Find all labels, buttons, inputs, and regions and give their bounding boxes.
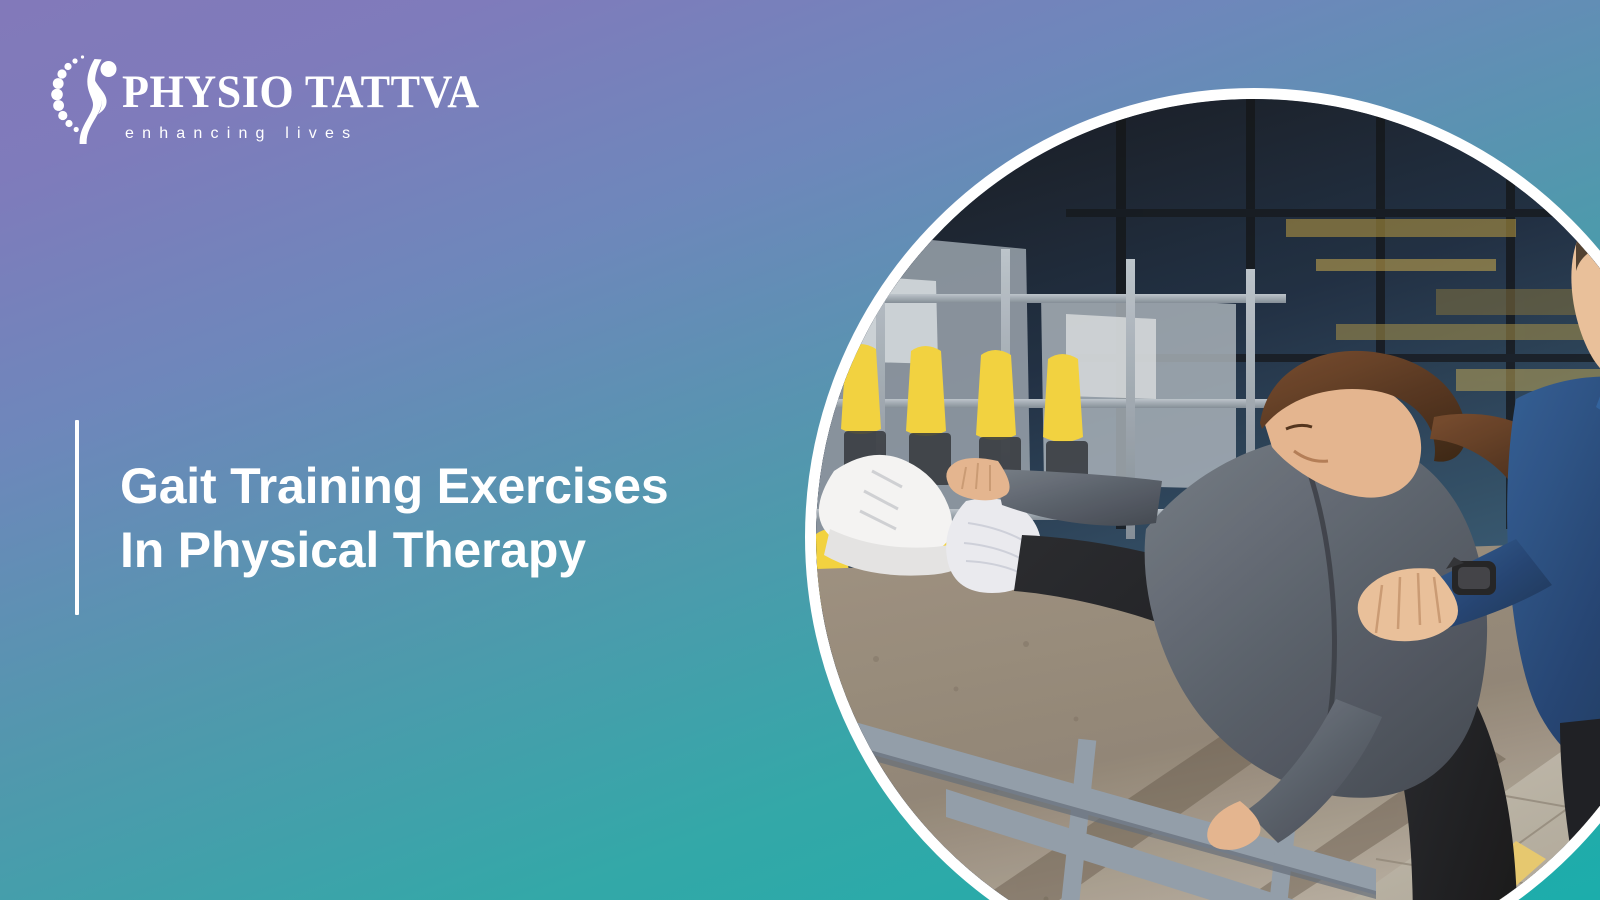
brand-wordmark: PHYSIO TATTVA — [122, 69, 480, 115]
headline-block: Gait Training Exercises In Physical Ther… — [75, 420, 668, 615]
brand-tagline: enhancing lives — [125, 125, 502, 143]
headline-accent-rule — [75, 420, 79, 615]
page-title: Gait Training Exercises In Physical Ther… — [120, 454, 668, 582]
physio-tattva-figure-mark-icon — [44, 52, 118, 156]
brand-logo-text: PHYSIO TATTVA enhancing lives — [122, 65, 502, 142]
hero-photo — [816, 99, 1600, 900]
brand-logo[interactable]: PHYSIO TATTVA enhancing lives — [44, 50, 502, 158]
hero-photo-circle — [805, 88, 1600, 900]
hero-banner: PHYSIO TATTVA enhancing lives Gait Train… — [0, 0, 1600, 900]
